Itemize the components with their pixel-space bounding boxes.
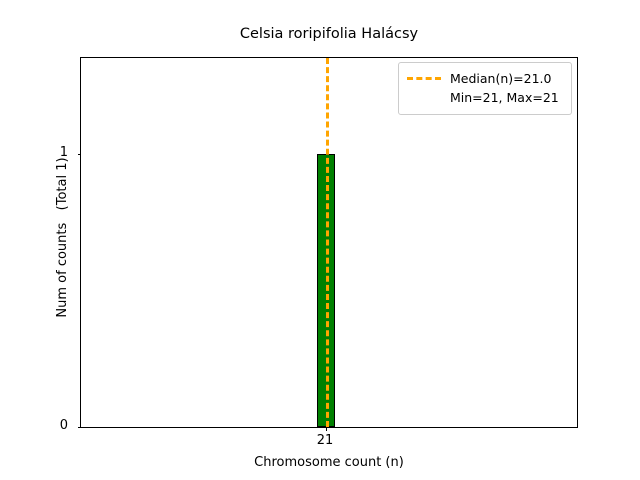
- legend-label-minmax: Min=21, Max=21: [450, 90, 559, 105]
- chart-figure: Celsia roripifolia Halácsy 0 1 21 Chromo…: [0, 0, 640, 480]
- y-axis-label: Num of counts (Total 1): [55, 52, 70, 423]
- legend: Median(n)=21.0 Min=21, Max=21: [398, 62, 572, 115]
- xtick-label-21: 21: [295, 433, 355, 448]
- legend-label-median: Median(n)=21.0: [450, 71, 551, 86]
- ytick-mark-1: [78, 154, 82, 155]
- legend-entry-median: Median(n)=21.0: [407, 69, 563, 88]
- legend-entry-minmax: Min=21, Max=21: [407, 88, 563, 107]
- xtick-mark-21: [326, 427, 327, 431]
- median-line: [326, 58, 329, 427]
- ytick-mark-0: [78, 427, 82, 428]
- x-axis-label: Chromosome count (n): [80, 455, 578, 470]
- page-title: Celsia roripifolia Halácsy: [80, 26, 578, 42]
- dashed-line-icon: [407, 77, 441, 80]
